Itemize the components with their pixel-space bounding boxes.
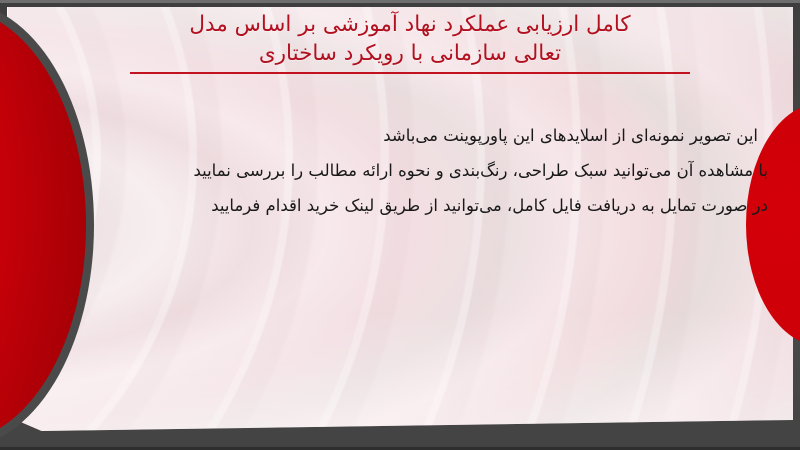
page-title: کامل ارزیابی عملکرد نهاد آموزشی بر اساس … xyxy=(120,10,700,68)
title-underline-rule xyxy=(130,72,690,74)
body-line-1: این تصویر نمونه‌ای از اسلایدهای این پاور… xyxy=(70,118,770,153)
slide-body-block: این تصویر نمونه‌ای از اسلایدهای این پاور… xyxy=(70,118,780,223)
slide-canvas: کامل ارزیابی عملکرد نهاد آموزشی بر اساس … xyxy=(0,0,800,450)
body-line-2: با مشاهده آن می‌توانید سبک طراحی، رنگ‌بن… xyxy=(70,153,770,188)
body-line-3: در صورت تمایل به دریافت فایل کامل، می‌تو… xyxy=(70,188,770,223)
frame-top-highlight xyxy=(0,0,800,3)
slide-title-block: کامل ارزیابی عملکرد نهاد آموزشی بر اساس … xyxy=(120,10,700,74)
